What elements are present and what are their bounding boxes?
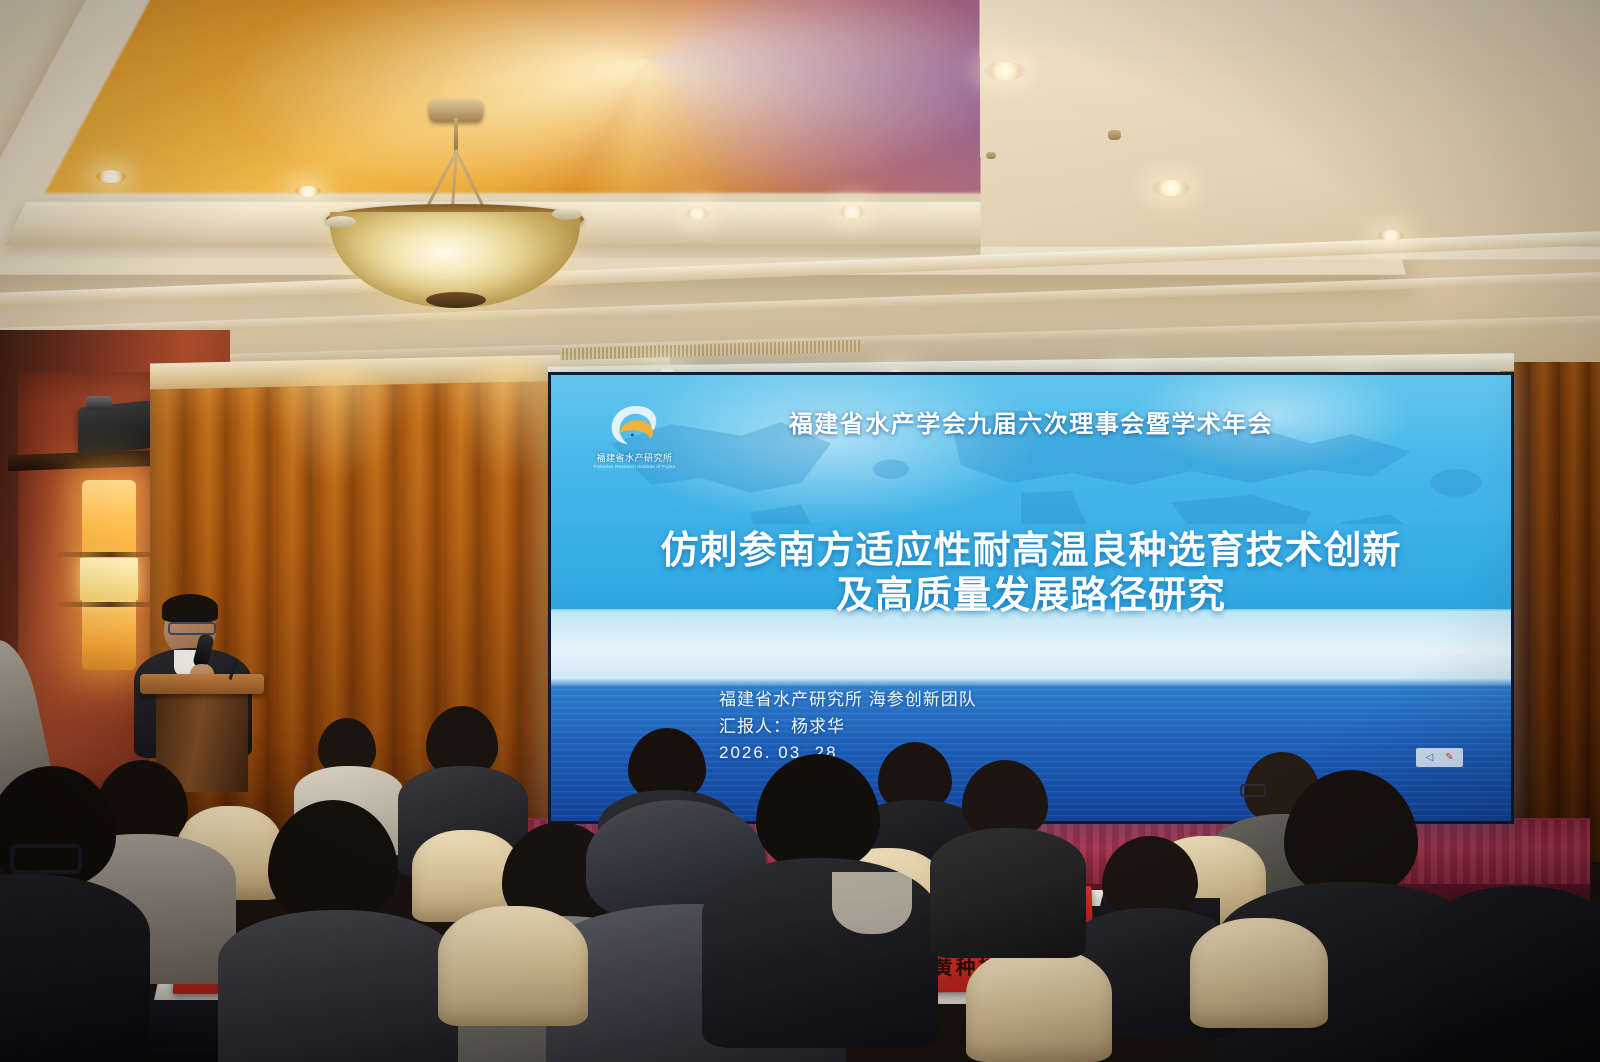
slide-header-text: 福建省水产学会九届六次理事会暨学术年会	[551, 404, 1511, 439]
sprinkler-icon	[986, 152, 996, 159]
ceiling-coffer-right	[979, 0, 1600, 259]
body	[1420, 886, 1600, 1062]
downlight-icon	[838, 206, 866, 218]
sconce-bar	[58, 602, 162, 607]
body	[0, 874, 150, 1062]
glasses-icon	[1240, 784, 1266, 797]
wall-wash-light	[262, 366, 412, 486]
slide-title: 仿刺参南方适应性耐高温良种选育技术创新 及高质量发展路径研究	[551, 529, 1511, 619]
conference-room-photo: 福建省水产研究所 Fisheries Research Institute of…	[0, 0, 1600, 1062]
downlight-icon	[1378, 230, 1404, 241]
downlight-icon	[96, 170, 126, 183]
brand-name-cn: 福建省水产研究所	[582, 451, 688, 464]
ceiling	[0, 0, 1600, 400]
slide-presenter: 汇报人：杨求华	[719, 714, 977, 740]
collar	[832, 872, 912, 934]
projector-lens-icon	[86, 396, 112, 410]
slide-org: 福建省水产研究所 海参创新团队	[719, 687, 977, 713]
downlight-icon	[295, 186, 321, 197]
chair	[966, 948, 1112, 1062]
chair	[438, 906, 588, 1026]
downlight-icon	[984, 62, 1026, 80]
downlight-icon	[684, 208, 710, 219]
presentation-toolbar[interactable]: ◁ ✎	[1416, 748, 1463, 767]
podium-top	[140, 674, 264, 694]
pen-tool-icon[interactable]: ✎	[1442, 751, 1457, 764]
body	[218, 910, 458, 1062]
downlight-icon	[1152, 180, 1190, 196]
presenter-glasses-icon	[168, 622, 216, 635]
stage-curtain-right	[1500, 362, 1600, 862]
slide-title-line2: 及高质量发展路径研究	[551, 574, 1511, 619]
slide-title-line1: 仿刺参南方适应性耐高温良种选育技术创新	[551, 529, 1511, 574]
chandelier-knob	[552, 208, 582, 220]
chandelier	[330, 100, 580, 300]
chandelier-knob	[326, 216, 356, 228]
body	[930, 828, 1086, 958]
prev-slide-icon[interactable]: ◁	[1422, 751, 1437, 764]
sprinkler-icon	[1108, 130, 1121, 140]
presenter-hair	[162, 594, 218, 622]
wall-sconce	[82, 480, 136, 670]
chair	[1190, 918, 1328, 1028]
sconce-texture-panel	[80, 558, 138, 600]
glasses-icon	[10, 844, 82, 874]
sconce-bar	[58, 552, 162, 557]
brand-name-en: Fisheries Research Institute of Fujian	[582, 464, 688, 469]
chandelier-finial	[426, 292, 486, 308]
